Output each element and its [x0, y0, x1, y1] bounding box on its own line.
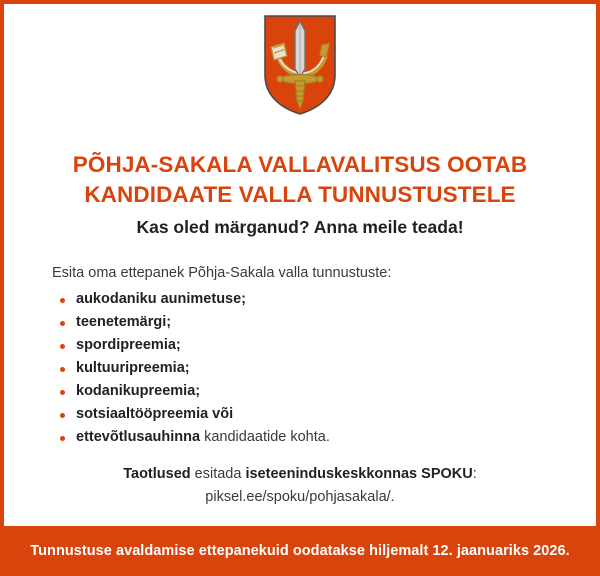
award-name: sotsiaaltööpreemia või: [76, 406, 233, 422]
award-name: aukodaniku aunimetuse;: [76, 291, 246, 307]
list-item: sotsiaaltööpreemia või: [52, 403, 330, 426]
bullet-dot-icon: [60, 321, 65, 326]
award-name: kultuuripreemia;: [76, 360, 190, 376]
apply-colon: :: [473, 466, 477, 482]
apply-bold-1: Taotlused: [123, 466, 190, 482]
poster-page: PÕHJA-SAKALA VALLAVALITSUS OOTAB KANDIDA…: [0, 0, 600, 576]
apply-mid: esitada: [191, 466, 246, 482]
spoku-url[interactable]: piksel.ee/spoku/pohjasakala/.: [4, 486, 596, 509]
bullet-dot-icon: [60, 413, 65, 418]
footer-bar: Tunnustuse avaldamise ettepanekuid oodat…: [0, 526, 600, 576]
award-name: ettevõtlusauhinna: [76, 429, 200, 445]
list-item: kodanikupreemia;: [52, 380, 330, 403]
list-item: aukodaniku aunimetuse;: [52, 288, 330, 311]
list-item: spordipreemia;: [52, 334, 330, 357]
coat-of-arms-container: [4, 13, 596, 121]
award-name: kodanikupreemia;: [76, 383, 200, 399]
intro-text: Esita oma ettepanek Põhja-Sakala valla t…: [52, 263, 391, 283]
pohja-sakala-coat-of-arms-icon: [262, 13, 338, 117]
page-title-line-1: PÕHJA-SAKALA VALLAVALITSUS OOTAB: [4, 150, 596, 180]
list-item: kultuuripreemia;: [52, 357, 330, 380]
list-item: teenetemärgi;: [52, 311, 330, 334]
award-name: teenetemärgi;: [76, 314, 171, 330]
page-title-line-2: KANDIDAATE VALLA TUNNUSTUSTELE: [4, 180, 596, 210]
subheading: Kas oled märganud? Anna meile teada!: [4, 215, 596, 239]
apply-instructions: Taotlused esitada iseteeninduskeskkonnas…: [4, 463, 596, 509]
apply-bold-2: iseteeninduskeskkonnas SPOKU: [245, 466, 472, 482]
bullet-dot-icon: [60, 436, 65, 441]
page-title: PÕHJA-SAKALA VALLAVALITSUS OOTAB KANDIDA…: [4, 150, 596, 210]
awards-list: aukodaniku aunimetuse; teenetemärgi; spo…: [52, 288, 330, 449]
list-item: ettevõtlusauhinna kandidaatide kohta.: [52, 426, 330, 449]
bullet-dot-icon: [60, 390, 65, 395]
award-name: spordipreemia;: [76, 337, 181, 353]
bullet-dot-icon: [60, 367, 65, 372]
bullet-dot-icon: [60, 344, 65, 349]
deadline-text: Tunnustuse avaldamise ettepanekuid oodat…: [30, 543, 569, 559]
bullet-dot-icon: [60, 298, 65, 303]
award-suffix: kandidaatide kohta.: [204, 429, 330, 445]
